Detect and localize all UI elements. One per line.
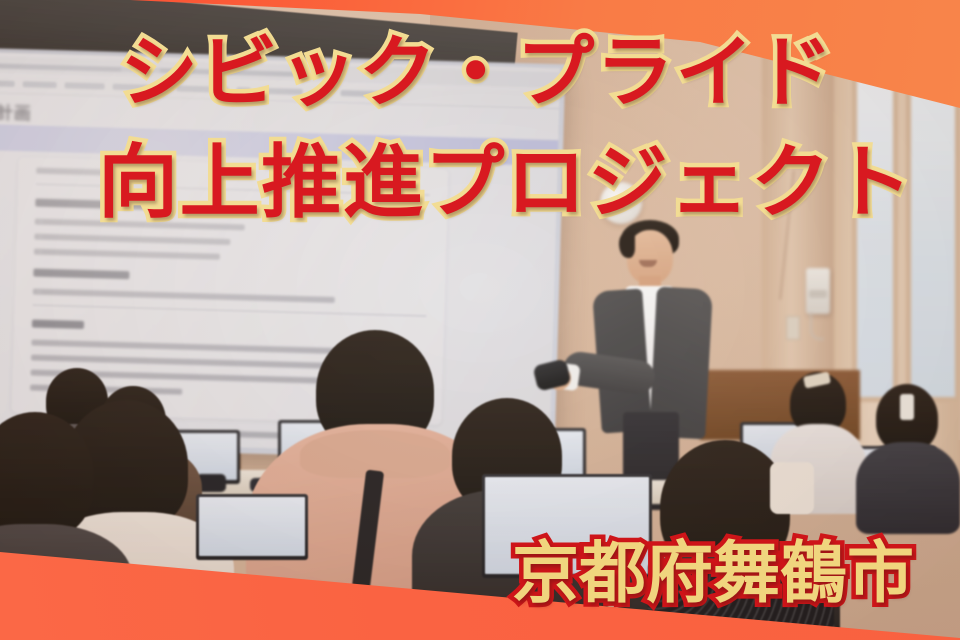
thumbnail-canvas: の計画	[0, 0, 960, 640]
browser-url-text	[0, 63, 295, 76]
door-glass-panel-left	[852, 62, 898, 402]
bullet-line	[35, 219, 245, 231]
phone-cord	[810, 312, 824, 340]
divider-rule	[36, 184, 430, 196]
hair-clip-icon	[900, 394, 914, 420]
classroom-photo: の計画	[0, 0, 960, 640]
bullet-line	[34, 234, 230, 245]
divider-rule	[32, 305, 426, 317]
wall-outlet-box	[786, 316, 800, 340]
bookmark-item	[258, 88, 302, 95]
laptop	[196, 494, 308, 560]
chair-back	[96, 582, 216, 640]
presenter-hair-side	[619, 232, 635, 258]
bookmark-item	[65, 82, 105, 89]
door-transom-window	[852, 0, 960, 48]
bookmark-item	[237, 87, 251, 93]
section-heading-2	[33, 269, 129, 280]
projected-page-heading: の計画	[0, 98, 32, 124]
text-line	[36, 168, 146, 177]
wall-phone-icon	[806, 268, 830, 314]
section-heading-3	[32, 320, 84, 329]
section-heading-1	[35, 199, 165, 211]
bullet-line	[33, 289, 335, 303]
bookmark-item	[23, 81, 57, 88]
bookmark-item	[177, 85, 229, 92]
bookmark-item	[0, 80, 15, 87]
bookmark-item	[113, 84, 149, 91]
bookmark-item	[314, 89, 330, 95]
bookmark-item	[157, 85, 169, 91]
chair-back	[648, 560, 834, 640]
chair-back	[300, 596, 450, 640]
student-body	[856, 442, 960, 534]
face-mask-icon	[770, 462, 814, 514]
laptop	[482, 474, 652, 578]
bookmark-item	[340, 90, 386, 97]
door-glass-panel-right	[906, 62, 960, 402]
bullet-line	[34, 249, 220, 260]
